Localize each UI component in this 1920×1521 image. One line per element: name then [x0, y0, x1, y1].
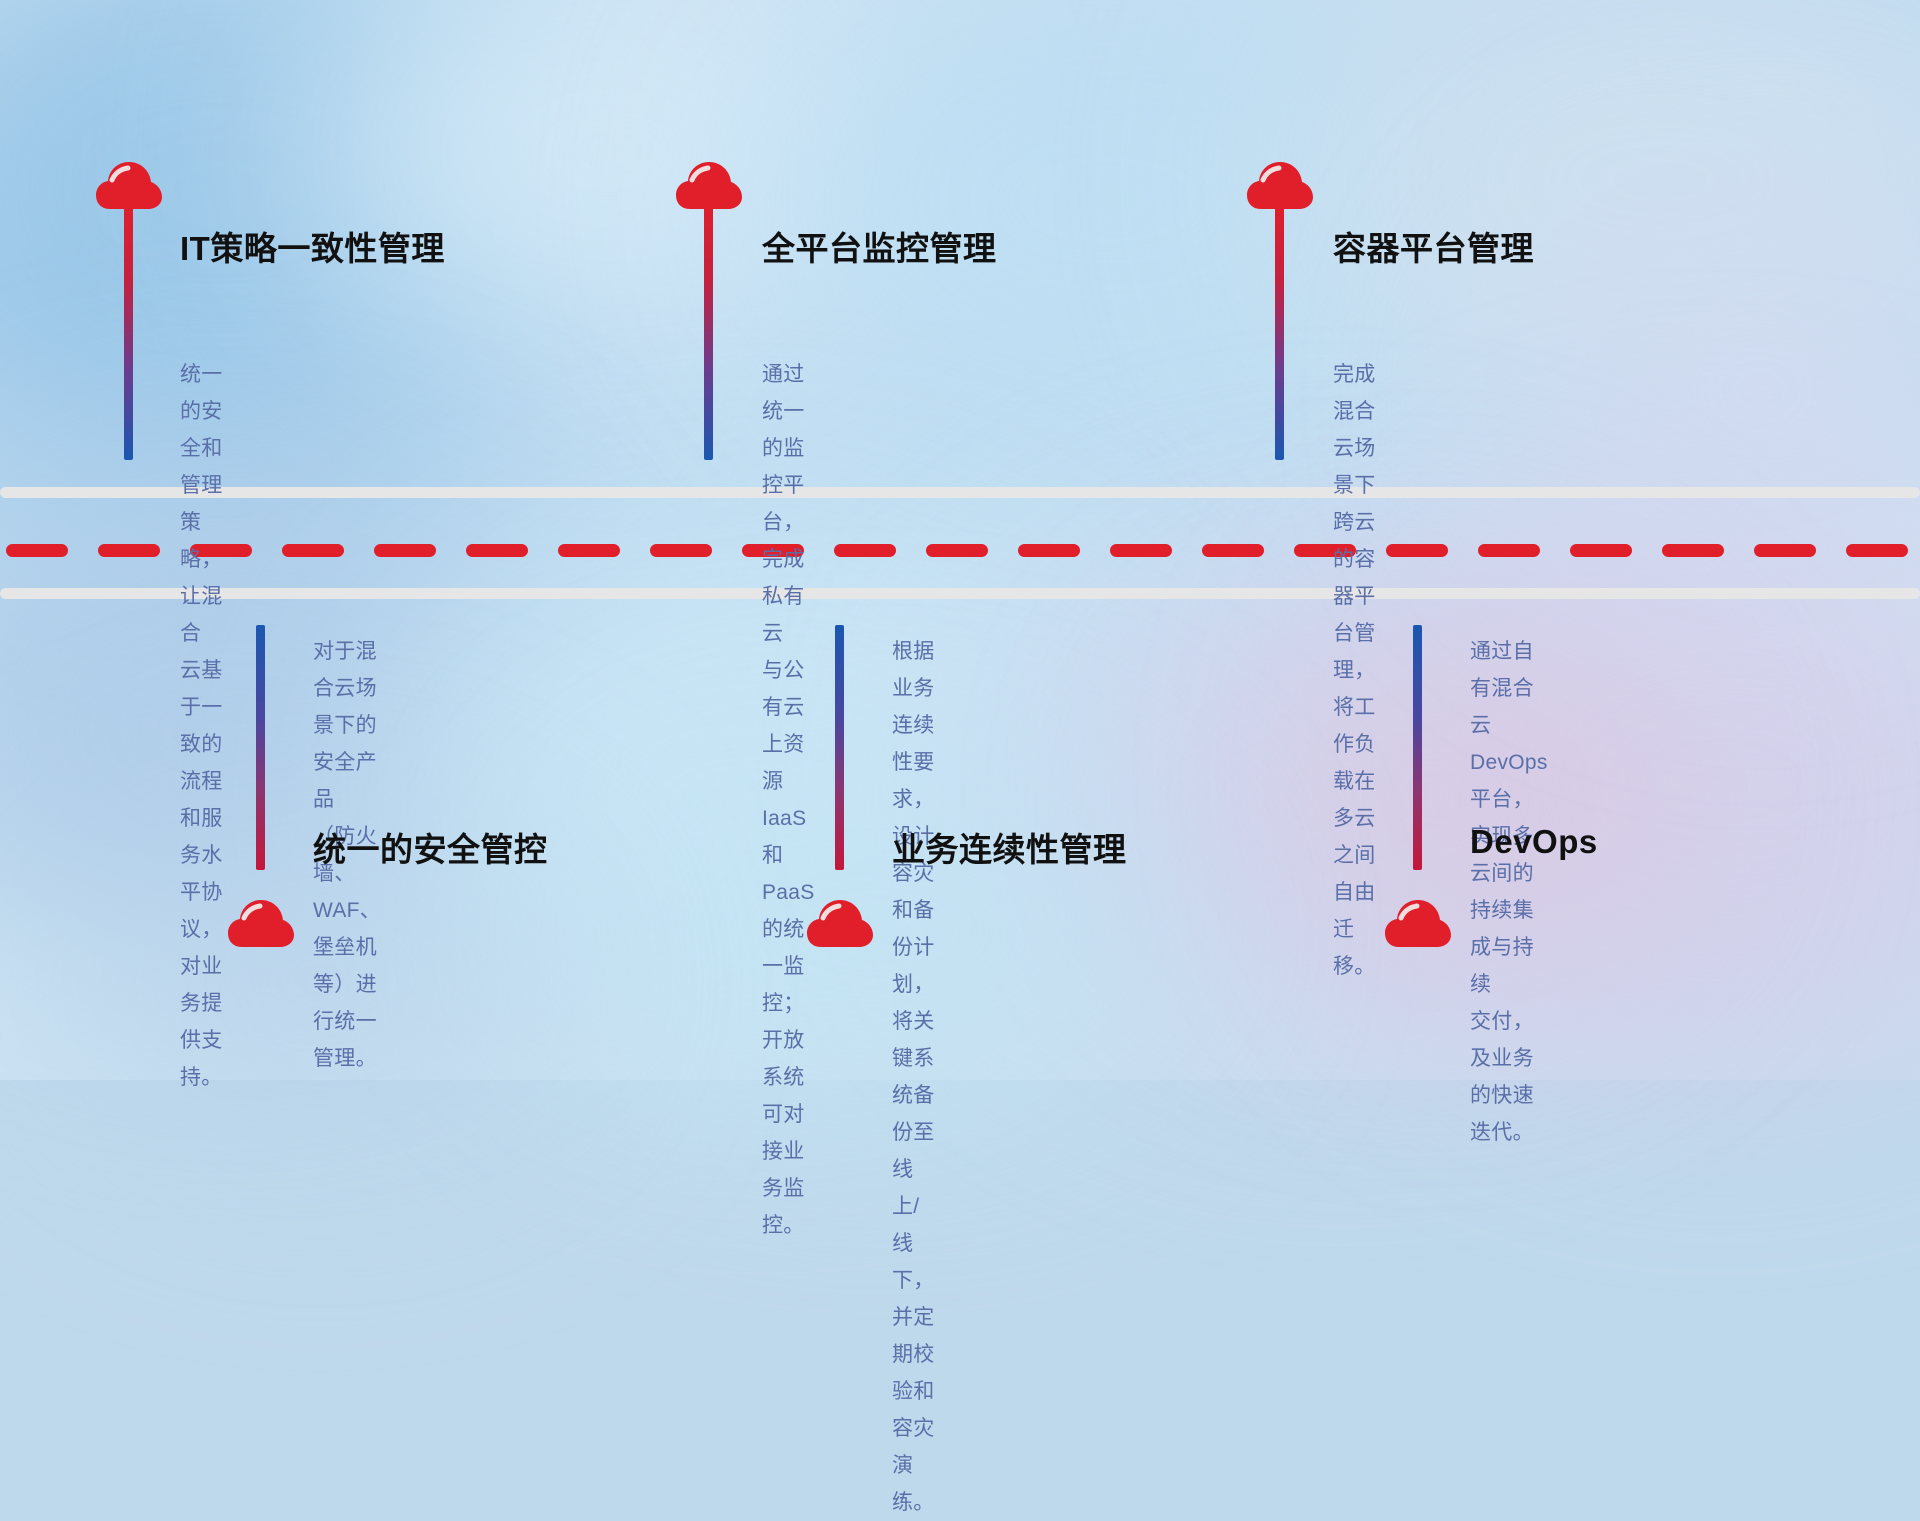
background-blob	[560, 760, 1200, 1100]
cloud-icon	[807, 898, 873, 948]
gradient-marker-line	[835, 625, 844, 870]
divider-dash	[1018, 544, 1080, 557]
divider-dash	[6, 544, 68, 557]
gradient-marker-line	[124, 205, 133, 460]
divider-rail-bottom	[0, 588, 1920, 599]
gradient-marker-line	[1413, 625, 1422, 870]
divider-dash	[1846, 544, 1908, 557]
divider-dash	[374, 544, 436, 557]
feature-heading: 业务连续性管理	[892, 823, 1127, 871]
divider-dash	[1202, 544, 1264, 557]
feature-description: 通过自有混合云DevOps平台， 实现多云间的持续集成与持续 交付，及业务的快速…	[1470, 633, 1548, 1151]
feature-heading: 容器平台管理	[1333, 222, 1534, 270]
divider-dash	[1110, 544, 1172, 557]
divider-dash	[558, 544, 620, 557]
cloud-icon	[96, 160, 162, 210]
gradient-marker-line	[704, 205, 713, 460]
feature-description: 根据业务连续性要求，设计容灾 和备份计划，将关键系统备份至 线上/线下，并定期校…	[892, 633, 935, 1521]
divider-rail-top	[0, 487, 1920, 498]
divider-dash	[1478, 544, 1540, 557]
divider-dash	[282, 544, 344, 557]
gradient-marker-line	[256, 625, 265, 870]
feature-description: 完成混合云场景下跨云的容器平 台管理，将工作负载在多云之间 自由迁移。	[1333, 356, 1376, 985]
divider-dash	[1754, 544, 1816, 557]
divider-dash	[834, 544, 896, 557]
feature-heading: 全平台监控管理	[762, 222, 997, 270]
divider-dash	[1570, 544, 1632, 557]
feature-heading: IT策略一致性管理	[180, 222, 445, 270]
feature-description: 通过统一的监控平台，完成私有云 与公有云上资源IaaS和PaaS的统 一监控；开…	[762, 356, 815, 1244]
feature-description: 统一的安全和管理策略，让混合 云基于一致的流程和服务水平协 议，对业务提供支持。	[180, 356, 223, 1096]
divider-dash	[1662, 544, 1724, 557]
cloud-icon	[228, 898, 294, 948]
cloud-icon	[676, 160, 742, 210]
divider-dash	[466, 544, 528, 557]
divider-dashed-line	[0, 544, 1920, 557]
divider-dash	[650, 544, 712, 557]
divider-dash	[926, 544, 988, 557]
cloud-icon	[1385, 898, 1451, 948]
feature-heading: 统一的安全管控	[313, 823, 548, 871]
cloud-icon	[1247, 160, 1313, 210]
feature-heading: DevOps	[1470, 823, 1598, 861]
divider-dash	[98, 544, 160, 557]
divider-dash	[1386, 544, 1448, 557]
gradient-marker-line	[1275, 205, 1284, 460]
